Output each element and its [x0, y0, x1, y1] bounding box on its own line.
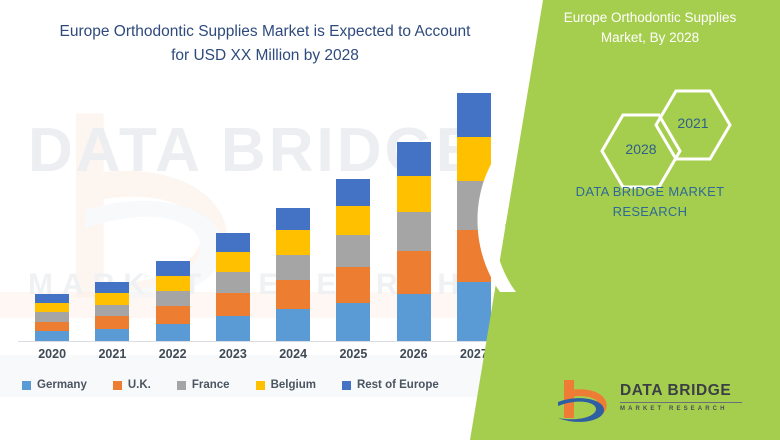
bar-segment-rest-of-europe-2024 — [276, 208, 310, 230]
bar-segment-belgium-2021 — [95, 293, 129, 305]
hexagon-badge-2028: 2028 — [598, 112, 684, 190]
bar-segment-germany-2022 — [156, 324, 190, 342]
bar-column-2023 — [216, 233, 250, 342]
bar-column-2021 — [95, 282, 129, 342]
legend-label: France — [192, 379, 230, 391]
bar-segment-germany-2027 — [457, 282, 491, 342]
legend-item-rest-of-europe[interactable]: Rest of Europe — [342, 379, 439, 391]
x-axis-label-2023: 2023 — [203, 347, 263, 361]
bar-segment-germany-2026 — [397, 294, 431, 342]
bar-segment-u-k-2026 — [397, 251, 431, 294]
brand-panel-content: Europe Orthodontic Supplies Market, By 2… — [520, 0, 780, 440]
legend-swatch-icon — [113, 381, 122, 390]
legend-item-germany[interactable]: Germany — [22, 379, 87, 391]
panel-title-line-1: Europe Orthodontic Supplies — [564, 10, 737, 25]
legend-item-u-k[interactable]: U.K. — [113, 379, 151, 391]
bar-segment-germany-2024 — [276, 309, 310, 342]
page-title: Europe Orthodontic Supplies Market is Ex… — [40, 20, 490, 68]
bar-segment-rest-of-europe-2027 — [457, 93, 491, 137]
brand-line-1: DATA BRIDGE MARKET — [576, 184, 725, 199]
logo-tagline: MARKET RESEARCH — [620, 406, 742, 412]
x-axis-label-2021: 2021 — [82, 347, 142, 361]
legend-swatch-icon — [342, 381, 351, 390]
legend-swatch-icon — [177, 381, 186, 390]
bar-segment-u-k-2025 — [336, 267, 370, 303]
bar-segment-u-k-2027 — [457, 230, 491, 283]
legend-label: Belgium — [271, 379, 316, 391]
company-logo: DATA BRIDGE MARKET RESEARCH — [552, 378, 762, 426]
bar-segment-france-2021 — [95, 305, 129, 317]
panel-title: Europe Orthodontic Supplies Market, By 2… — [528, 8, 772, 49]
bar-segment-france-2024 — [276, 255, 310, 281]
logo-company-name: DATA BRIDGE — [620, 382, 742, 400]
bar-segment-france-2025 — [336, 235, 370, 267]
bar-column-2027 — [457, 93, 491, 342]
bar-segment-germany-2023 — [216, 316, 250, 342]
legend-label: U.K. — [128, 379, 151, 391]
legend-swatch-icon — [22, 381, 31, 390]
x-axis-label-2027: 2027 — [444, 347, 504, 361]
bar-segment-germany-2025 — [336, 303, 370, 342]
x-axis-label-2026: 2026 — [384, 347, 444, 361]
bar-segment-germany-2021 — [95, 329, 129, 342]
infographic-canvas: DATA BRIDGE MARKET RESEARCH Europe Ortho… — [0, 0, 780, 440]
bar-segment-rest-of-europe-2022 — [156, 261, 190, 275]
logo-wordmark: DATA BRIDGE MARKET RESEARCH — [620, 382, 742, 412]
x-axis-labels: 20202021202220232024202520262027 — [22, 345, 504, 367]
bar-segment-france-2026 — [397, 212, 431, 250]
hexagon-2028-label: 2028 — [598, 141, 684, 157]
bar-segment-belgium-2026 — [397, 176, 431, 213]
bar-column-2022 — [156, 261, 190, 342]
bar-column-2026 — [397, 142, 431, 342]
bar-segment-belgium-2022 — [156, 276, 190, 291]
bar-segment-rest-of-europe-2021 — [95, 282, 129, 293]
bar-segment-france-2027 — [457, 181, 491, 229]
stacked-bar-chart — [22, 92, 504, 342]
legend-swatch-icon — [256, 381, 265, 390]
chart-panel: DATA BRIDGE MARKET RESEARCH Europe Ortho… — [0, 0, 520, 440]
logo-divider — [620, 402, 742, 403]
bar-segment-u-k-2020 — [35, 322, 69, 332]
bar-segment-u-k-2021 — [95, 316, 129, 329]
brand-name-text: DATA BRIDGE MARKET RESEARCH — [528, 182, 772, 222]
title-line-2: for USD XX Million by 2028 — [171, 47, 359, 64]
bar-segment-u-k-2022 — [156, 306, 190, 323]
legend-item-france[interactable]: France — [177, 379, 230, 391]
legend-label: Germany — [37, 379, 87, 391]
x-axis-line — [18, 341, 496, 342]
bar-column-2020 — [35, 294, 69, 342]
data-bridge-logo-icon — [552, 378, 612, 426]
bar-segment-belgium-2025 — [336, 206, 370, 236]
bar-segment-rest-of-europe-2023 — [216, 233, 250, 251]
bar-column-2025 — [336, 179, 370, 342]
legend-label: Rest of Europe — [357, 379, 439, 391]
bar-segment-rest-of-europe-2025 — [336, 179, 370, 206]
bar-segment-rest-of-europe-2026 — [397, 142, 431, 176]
title-line-1: Europe Orthodontic Supplies Market is Ex… — [60, 23, 471, 40]
x-axis-label-2024: 2024 — [263, 347, 323, 361]
bar-segment-u-k-2024 — [276, 280, 310, 309]
panel-title-line-2: Market, By 2028 — [601, 30, 699, 45]
bar-segment-belgium-2020 — [35, 303, 69, 313]
bar-segment-u-k-2023 — [216, 293, 250, 316]
bar-segment-france-2022 — [156, 291, 190, 306]
bar-segment-belgium-2024 — [276, 230, 310, 254]
bar-segment-belgium-2023 — [216, 252, 250, 272]
chart-legend: GermanyU.K.FranceBelgiumRest of Europe — [22, 374, 504, 396]
brand-line-2: RESEARCH — [613, 204, 688, 219]
legend-item-belgium[interactable]: Belgium — [256, 379, 316, 391]
x-axis-label-2022: 2022 — [143, 347, 203, 361]
bar-segment-france-2020 — [35, 312, 69, 322]
bar-column-2024 — [276, 208, 310, 342]
bar-segment-belgium-2027 — [457, 137, 491, 181]
x-axis-label-2025: 2025 — [323, 347, 383, 361]
bar-segment-rest-of-europe-2020 — [35, 294, 69, 303]
bar-segment-france-2023 — [216, 272, 250, 293]
x-axis-label-2020: 2020 — [22, 347, 82, 361]
